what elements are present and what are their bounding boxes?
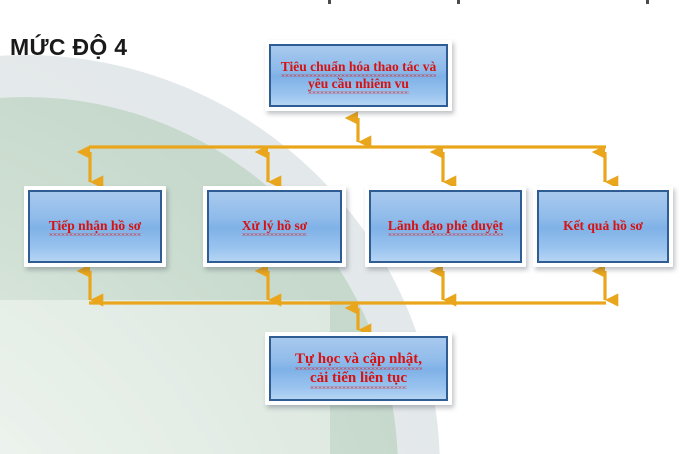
node-leader-approval-line-1: Lãnh đạo phê duyệt — [388, 218, 503, 236]
node-dossier-result-body: Kết quả hồ sơ — [537, 190, 669, 263]
node-leader-approval[interactable]: Lãnh đạo phê duyệt — [365, 186, 526, 267]
node-receive-dossier-label: Tiếp nhận hồ sơ — [44, 218, 146, 234]
node-continuous-improvement[interactable]: Tự học và cập nhật, cải tiến liên tục — [265, 332, 452, 405]
node-standardization[interactable]: Tiêu chuẩn hóa thao tác và yêu cầu nhiêm… — [265, 40, 452, 111]
node-receive-dossier-line-1: Tiếp nhận hồ sơ — [49, 218, 141, 236]
node-continuous-improvement-label: Tự học và cập nhật, cải tiến liên tục — [290, 350, 427, 387]
node-process-dossier-body: Xử lý hồ sơ — [207, 190, 342, 263]
node-process-dossier[interactable]: Xử lý hồ sơ — [203, 186, 346, 267]
node-leader-approval-label: Lãnh đạo phê duyệt — [383, 218, 508, 234]
slide-canvas: MỨC ĐỘ 4 — [0, 0, 680, 454]
node-standardization-line-2: yêu cầu nhiêm vu — [308, 76, 409, 94]
node-dossier-result[interactable]: Kết quả hồ sơ — [533, 186, 673, 267]
node-receive-dossier[interactable]: Tiếp nhận hồ sơ — [24, 186, 166, 267]
node-continuous-improvement-line-1: Tự học và cập nhật, — [295, 351, 422, 370]
node-continuous-improvement-line-2: cải tiến liên tục — [310, 370, 407, 389]
node-leader-approval-body: Lãnh đạo phê duyệt — [369, 190, 522, 263]
node-dossier-result-line-1: Kết quả hồ sơ — [563, 218, 643, 233]
node-continuous-improvement-body: Tự học và cập nhật, cải tiến liên tục — [269, 336, 448, 401]
node-receive-dossier-body: Tiếp nhận hồ sơ — [28, 190, 162, 263]
node-standardization-body: Tiêu chuẩn hóa thao tác và yêu cầu nhiêm… — [269, 44, 448, 107]
node-standardization-line-1: Tiêu chuẩn hóa thao tác và — [281, 59, 436, 77]
node-process-dossier-line-1: Xử lý hồ sơ — [242, 218, 307, 236]
node-standardization-label: Tiêu chuẩn hóa thao tác và yêu cầu nhiêm… — [276, 59, 441, 92]
node-dossier-result-label: Kết quả hồ sơ — [558, 218, 648, 234]
node-process-dossier-label: Xử lý hồ sơ — [237, 218, 312, 234]
